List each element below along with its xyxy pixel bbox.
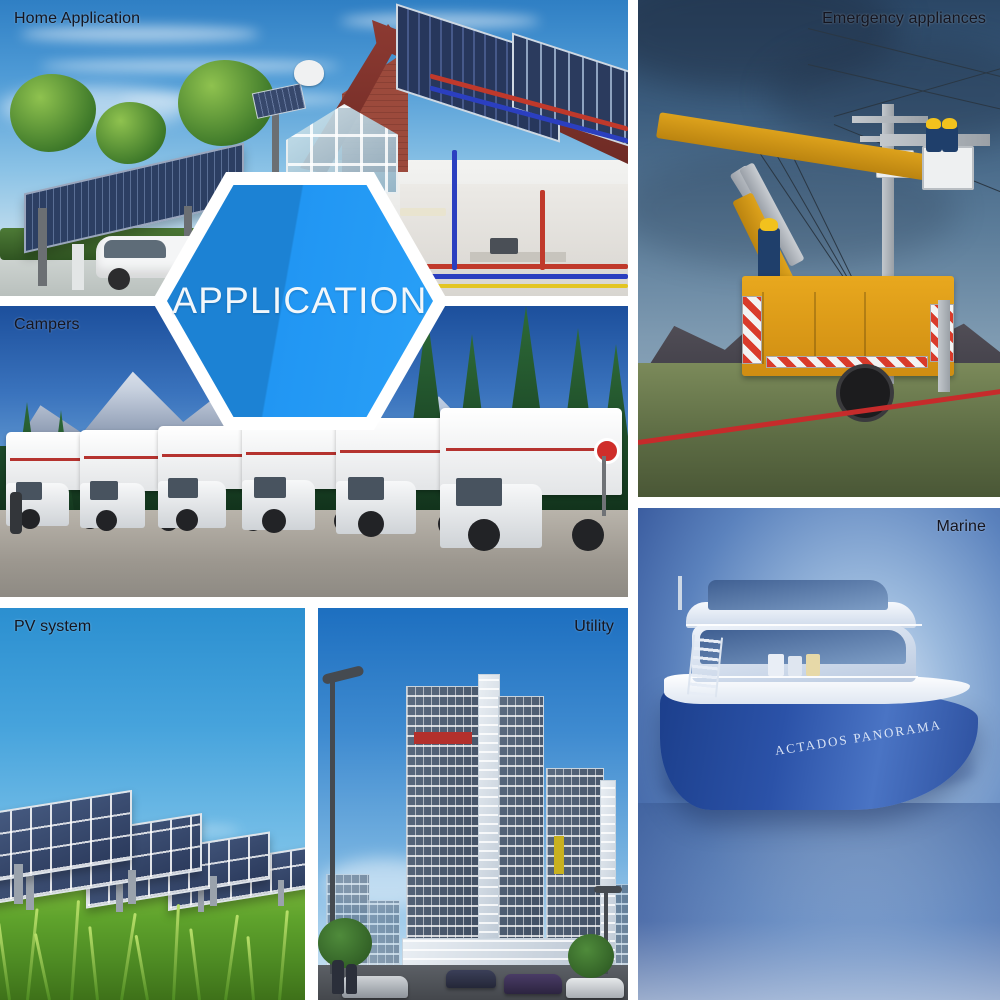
pedestrian [346, 964, 357, 994]
array-support-leg [128, 870, 136, 904]
no-entry-sign [594, 438, 620, 464]
hazard-stripe-bottom [766, 356, 928, 368]
rv-wheel [358, 511, 384, 537]
rv-wheel [96, 510, 117, 531]
cloud-wisp [20, 26, 260, 42]
street-tree [318, 918, 372, 968]
truck-panel-line [762, 292, 764, 364]
deck-railing [692, 676, 918, 680]
panel-label-pv-system: PV system [14, 618, 91, 636]
rv-stripe [446, 448, 614, 451]
array-support-leg [116, 882, 123, 912]
tower-red-signage [414, 732, 472, 744]
rv-wheel [572, 519, 604, 551]
bow-mast [678, 576, 682, 610]
panel-label-marine: Marine [936, 518, 986, 536]
street-car [446, 970, 496, 988]
worker-bucket [922, 146, 974, 190]
panel-marine[interactable]: ACTADOS PANORAMA Marine [638, 508, 1000, 1000]
hard-hat [926, 118, 941, 129]
rv-window [348, 477, 384, 500]
secondary-tower-signage [554, 836, 564, 874]
satellite-dish [294, 60, 324, 86]
deck-equipment [806, 654, 820, 676]
lineman-upper [942, 126, 958, 152]
rv-window [90, 481, 118, 500]
hard-hat [760, 218, 778, 231]
application-collage: Home Application [0, 0, 1000, 1000]
panel-utility[interactable]: Utility [318, 608, 628, 1000]
hazard-stripe-left [742, 296, 762, 364]
rv-window [254, 477, 286, 498]
application-badge[interactable]: APPLICATION [152, 172, 448, 430]
lineman-upper [926, 126, 942, 152]
street-car [504, 974, 562, 994]
deck-railing [686, 624, 922, 628]
panel-pv-system[interactable]: PV system [0, 608, 305, 1000]
pipe-blue-vertical [452, 150, 457, 270]
carport-post [38, 208, 47, 286]
street-car [566, 978, 624, 998]
panel-label-utility: Utility [574, 618, 614, 636]
rv-wheel [176, 509, 198, 531]
rv-wheel [468, 519, 500, 551]
boarding-ladder [687, 635, 723, 698]
outrigger [938, 300, 950, 392]
truck-panel-line [864, 292, 866, 364]
deck-equipment [788, 656, 802, 676]
pedestrian [332, 960, 344, 994]
panel-label-emergency-appliances: Emergency appliances [822, 10, 986, 28]
interior-laptop [490, 238, 518, 254]
deck-equipment [768, 654, 784, 676]
upper-bridge-glass [708, 580, 888, 610]
rv-wheel [20, 509, 40, 529]
ev-charging-pedestal [72, 244, 84, 290]
panel-emergency-appliances[interactable]: Emergency appliances [638, 0, 1000, 497]
rv-window [168, 478, 198, 498]
truck-panel-line [814, 292, 816, 364]
rv-window [456, 478, 502, 506]
sign-post [602, 456, 606, 516]
pipe-red-vertical [540, 190, 545, 270]
cabin-window-band [700, 630, 906, 664]
interior-counter [470, 252, 566, 262]
array-support-leg [278, 880, 284, 906]
water-surface [638, 803, 1000, 1000]
array-support-leg [14, 864, 23, 904]
street-light-head [594, 886, 622, 893]
panel-label-home-application: Home Application [14, 10, 140, 28]
street-tree [568, 934, 614, 978]
rv-wheel [262, 509, 286, 533]
panel-label-campers: Campers [14, 316, 80, 334]
array-support-leg [210, 876, 217, 906]
array-support-leg [26, 876, 34, 910]
pole-crossarm [852, 116, 928, 123]
hard-hat [942, 118, 957, 129]
bollard [10, 492, 22, 534]
rv-motorhome [440, 408, 622, 548]
car-wheel [108, 268, 130, 290]
